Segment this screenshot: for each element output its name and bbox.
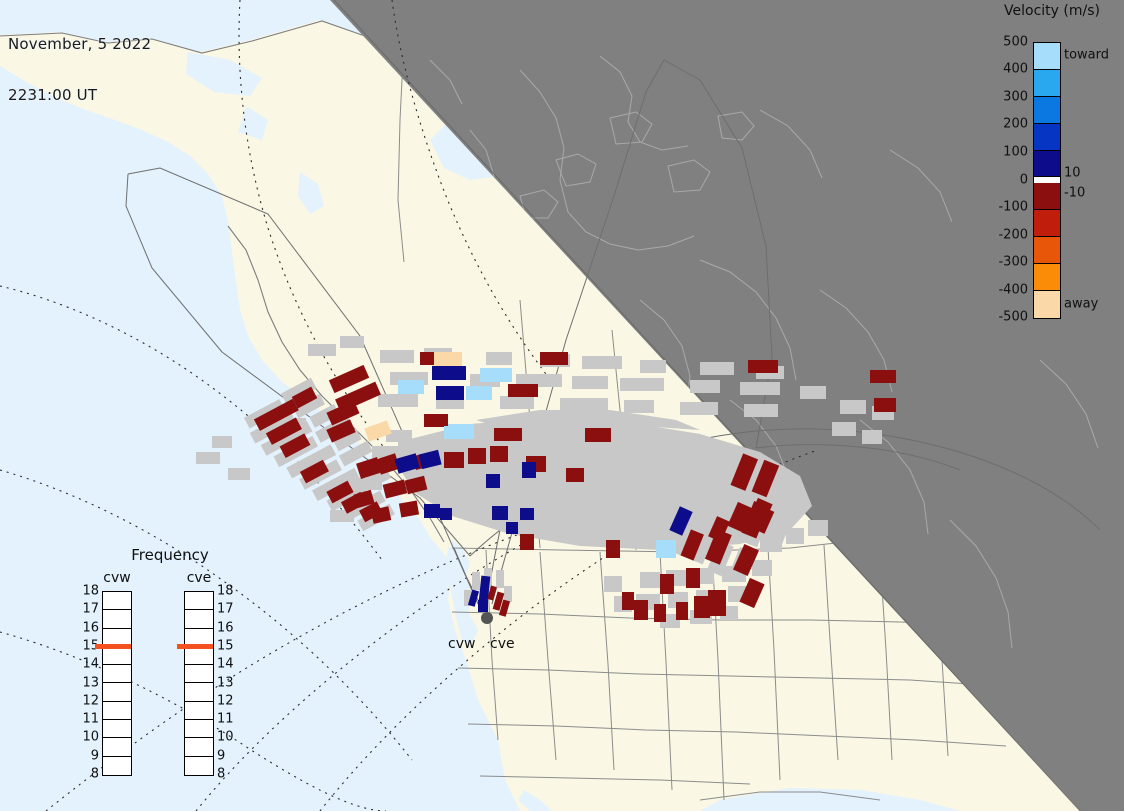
frequency-tick-cve-11: 11	[217, 712, 234, 727]
frequency-tick-cvw-16: 16	[82, 620, 99, 635]
frequency-tick-cvw-8: 8	[91, 767, 99, 782]
velocity-zero-upper-label: 10	[1064, 165, 1081, 180]
frequency-tick-cvw-18: 18	[82, 584, 99, 599]
frequency-tick-cve-15: 15	[217, 638, 234, 653]
frequency-segment	[103, 592, 131, 610]
title-time: 2231:00 UT	[8, 87, 151, 104]
frequency-marker-cvw	[95, 644, 131, 649]
radar-site-label-cvw: cvw	[448, 636, 475, 652]
frequency-segment	[185, 702, 213, 720]
frequency-segment	[103, 610, 131, 628]
velocity-tick--100: -100	[998, 200, 1028, 215]
frequency-segment	[185, 592, 213, 610]
frequency-tick-cve-10: 10	[217, 730, 234, 745]
frequency-segment	[103, 720, 131, 738]
frequency-marker-cve	[177, 644, 213, 649]
velocity-tick-300: 300	[1003, 89, 1028, 104]
frequency-segment	[185, 683, 213, 701]
frequency-tick-cvw-14: 14	[82, 657, 99, 672]
ground-scatter-cells	[196, 336, 894, 628]
frequency-tick-cvw-11: 11	[82, 712, 99, 727]
frequency-tick-cvw-13: 13	[82, 675, 99, 690]
frequency-segment	[103, 738, 131, 756]
frequency-tick-cvw-17: 17	[82, 602, 99, 617]
title-date: November, 5 2022	[8, 36, 151, 53]
radar-site-marker	[481, 612, 493, 624]
velocity-colorbar-side-labels: toward10-10away	[1064, 0, 1124, 332]
frequency-segment	[185, 757, 213, 775]
velocity-toward-label: toward	[1064, 48, 1109, 63]
velocity-away-label: away	[1064, 296, 1098, 311]
frequency-tick-cve-17: 17	[217, 602, 234, 617]
velocity-band-400-500	[1034, 43, 1060, 70]
velocity-tick--400: -400	[998, 282, 1028, 297]
frequency-segment	[103, 757, 131, 775]
frequency-tick-cvw-9: 9	[91, 748, 99, 763]
frequency-column-name-cvw: cvw	[94, 570, 140, 586]
velocity-colorbar-strip	[1033, 42, 1061, 319]
velocity-band-300-400	[1034, 70, 1060, 97]
velocity-band-200-300	[1034, 97, 1060, 124]
frequency-segment	[185, 665, 213, 683]
velocity-band--500--400	[1034, 291, 1060, 318]
frequency-tick-cve-12: 12	[217, 693, 234, 708]
frequency-tick-cve-14: 14	[217, 657, 234, 672]
frequency-tick-cvw-10: 10	[82, 730, 99, 745]
timestamp-title: November, 5 2022 2231:00 UT	[8, 2, 151, 138]
velocity-zero-lower-label: -10	[1064, 185, 1085, 200]
frequency-segment	[103, 665, 131, 683]
velocity-colorbar: Velocity (m/s) 5004003002001000-100-200-…	[980, 0, 1124, 332]
frequency-segment	[185, 720, 213, 738]
velocity-tick-100: 100	[1003, 144, 1028, 159]
frequency-segment	[185, 738, 213, 756]
frequency-segment	[103, 647, 131, 665]
velocity-tick-200: 200	[1003, 117, 1028, 132]
velocity-band--400--300	[1034, 264, 1060, 291]
velocity-band-100-200	[1034, 124, 1060, 151]
frequency-tick-cve-13: 13	[217, 675, 234, 690]
frequency-tick-cvw-12: 12	[82, 693, 99, 708]
frequency-scale-cvw	[102, 591, 132, 776]
velocity-tick-500: 500	[1003, 35, 1028, 50]
frequency-segment	[185, 610, 213, 628]
velocity-band--200--100	[1034, 210, 1060, 237]
radar-site-label-cve: cve	[490, 636, 515, 652]
frequency-column-cvw: cvw18171615141312111098	[94, 570, 140, 784]
frequency-tick-cve-16: 16	[217, 620, 234, 635]
frequency-column-name-cve: cve	[176, 570, 222, 586]
velocity-tick-0: 0	[1020, 172, 1028, 187]
velocity-colorbar-ticks: 5004003002001000-100-200-300-400-500	[980, 0, 1032, 332]
velocity-band--100--10	[1034, 183, 1060, 210]
frequency-tick-cve-18: 18	[217, 584, 234, 599]
frequency-segment	[103, 702, 131, 720]
velocity-band--300--200	[1034, 237, 1060, 264]
radar-map-canvas: November, 5 2022 2231:00 UT cvw cve Velo…	[0, 0, 1124, 811]
velocity-tick--300: -300	[998, 255, 1028, 270]
frequency-column-cve: cve18171615141312111098	[176, 570, 222, 784]
frequency-legend-title: Frequency	[86, 546, 254, 564]
frequency-segment	[103, 683, 131, 701]
frequency-tick-cve-9: 9	[217, 748, 225, 763]
velocity-tick--200: -200	[998, 227, 1028, 242]
frequency-segment	[185, 647, 213, 665]
velocity-band-10-100	[1034, 151, 1060, 178]
velocity-tick--500: -500	[998, 310, 1028, 325]
frequency-tick-cve-8: 8	[217, 767, 225, 782]
frequency-scale-cve	[184, 591, 214, 776]
frequency-legend: Frequency cvw18171615141312111098cve1817…	[86, 546, 254, 786]
velocity-tick-400: 400	[1003, 62, 1028, 77]
